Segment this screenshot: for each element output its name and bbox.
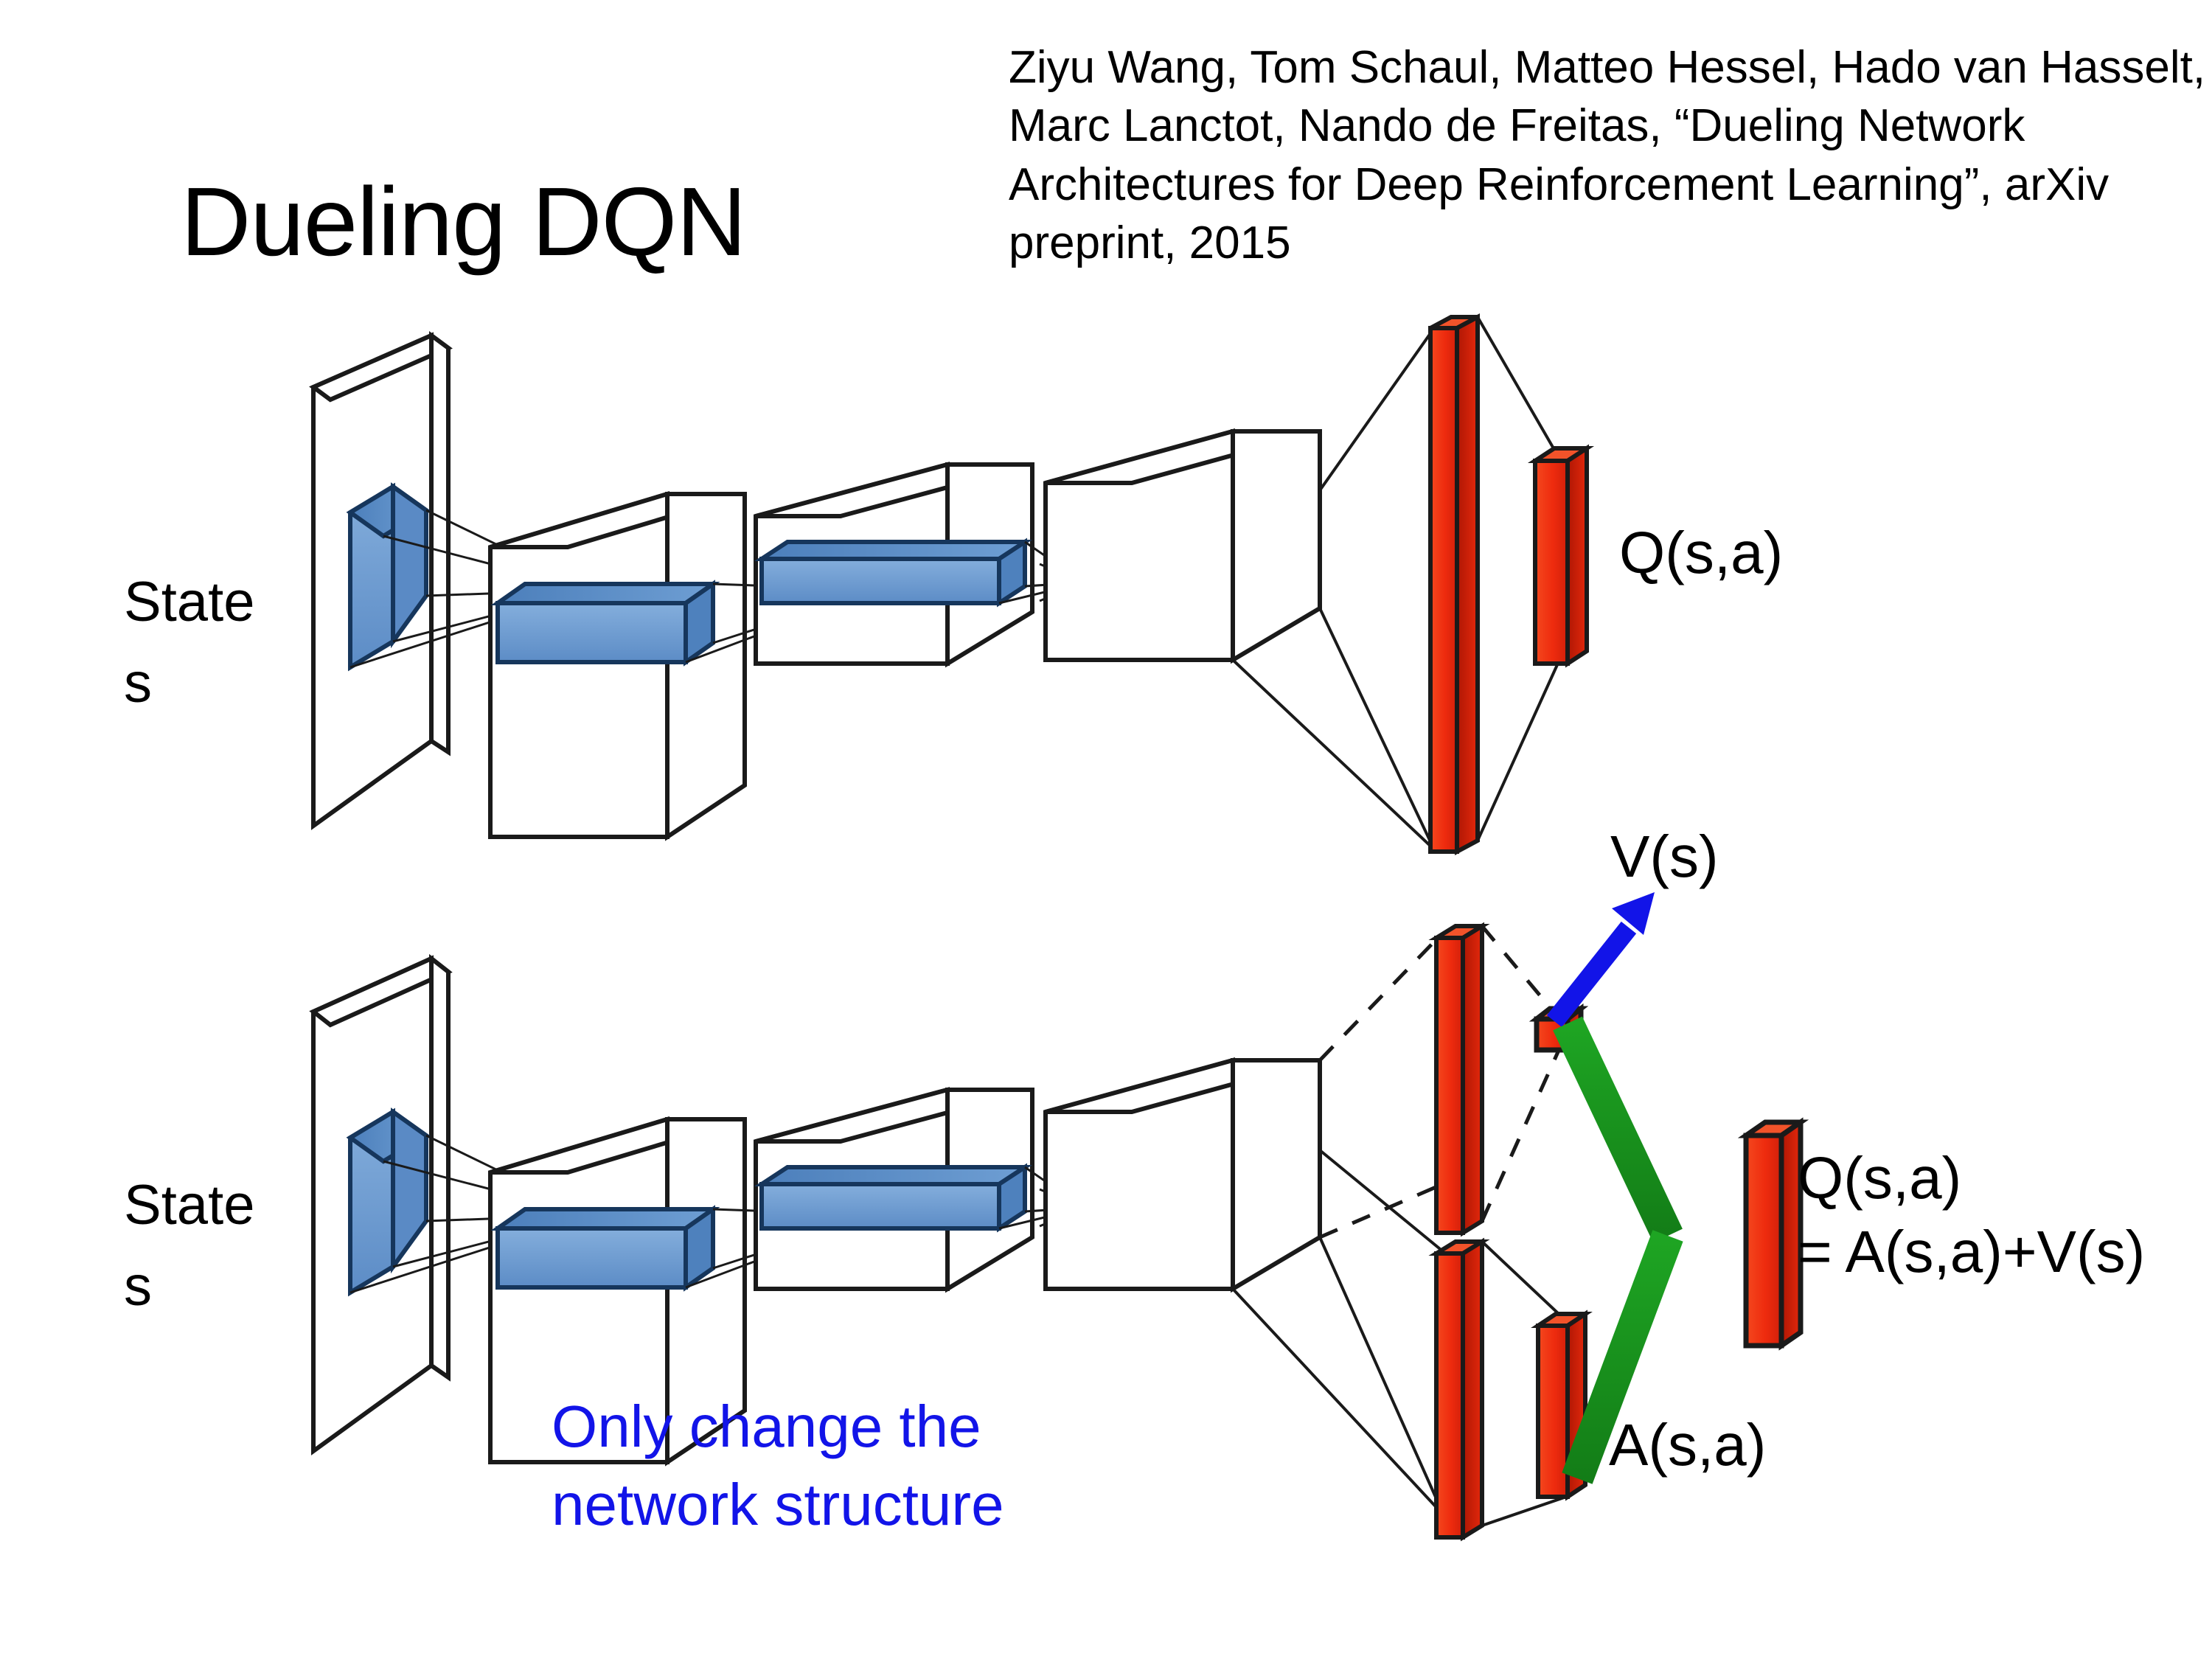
label-q-value-top: Q(s,a)	[1619, 516, 1783, 590]
annotation-note: Only change the network structure	[552, 1388, 1112, 1543]
conv-block-3-bottom	[1046, 1060, 1320, 1289]
state-label-bottom-network: State s	[124, 1165, 367, 1327]
slide-canvas: Dueling DQN Ziyu Wang, Tom Schaul, Matte…	[0, 0, 2212, 1659]
state-label-top-network: State s	[124, 562, 367, 724]
output-bar-q-top	[1535, 448, 1587, 664]
label-q-decomposition-line1: Q(s,a)	[1798, 1141, 2145, 1215]
label-a-advantage: A(s,a)	[1609, 1408, 1766, 1482]
label-q-decomposition: Q(s,a) = A(s,a)+V(s)	[1798, 1141, 2145, 1289]
feature-bar-1-top	[498, 584, 713, 662]
feature-bar-1-bottom	[498, 1209, 713, 1287]
output-bar-q-bottom	[1746, 1122, 1801, 1346]
fc-layer-value-stream	[1436, 926, 1482, 1233]
citation-text: Ziyu Wang, Tom Schaul, Matteo Hessel, Ha…	[1009, 38, 2211, 272]
conv-block-1-top	[490, 494, 745, 837]
connection-fan-value-stream	[1320, 936, 1439, 1237]
top-network	[313, 317, 1587, 852]
conv-block-3-top	[1046, 431, 1320, 660]
feature-bar-2-top	[762, 542, 1025, 603]
page-title: Dueling DQN	[181, 171, 918, 274]
feature-bar-2-bottom	[762, 1167, 1025, 1228]
connection-value-to-scalar	[1482, 926, 1560, 1221]
label-v-value: V(s)	[1610, 820, 1719, 894]
fc-layer-top	[1430, 317, 1478, 852]
label-q-decomposition-line2: = A(s,a)+V(s)	[1798, 1215, 2145, 1289]
value-stream-arrow	[1554, 892, 1655, 1021]
fc-layer-advantage-stream	[1436, 1242, 1482, 1537]
